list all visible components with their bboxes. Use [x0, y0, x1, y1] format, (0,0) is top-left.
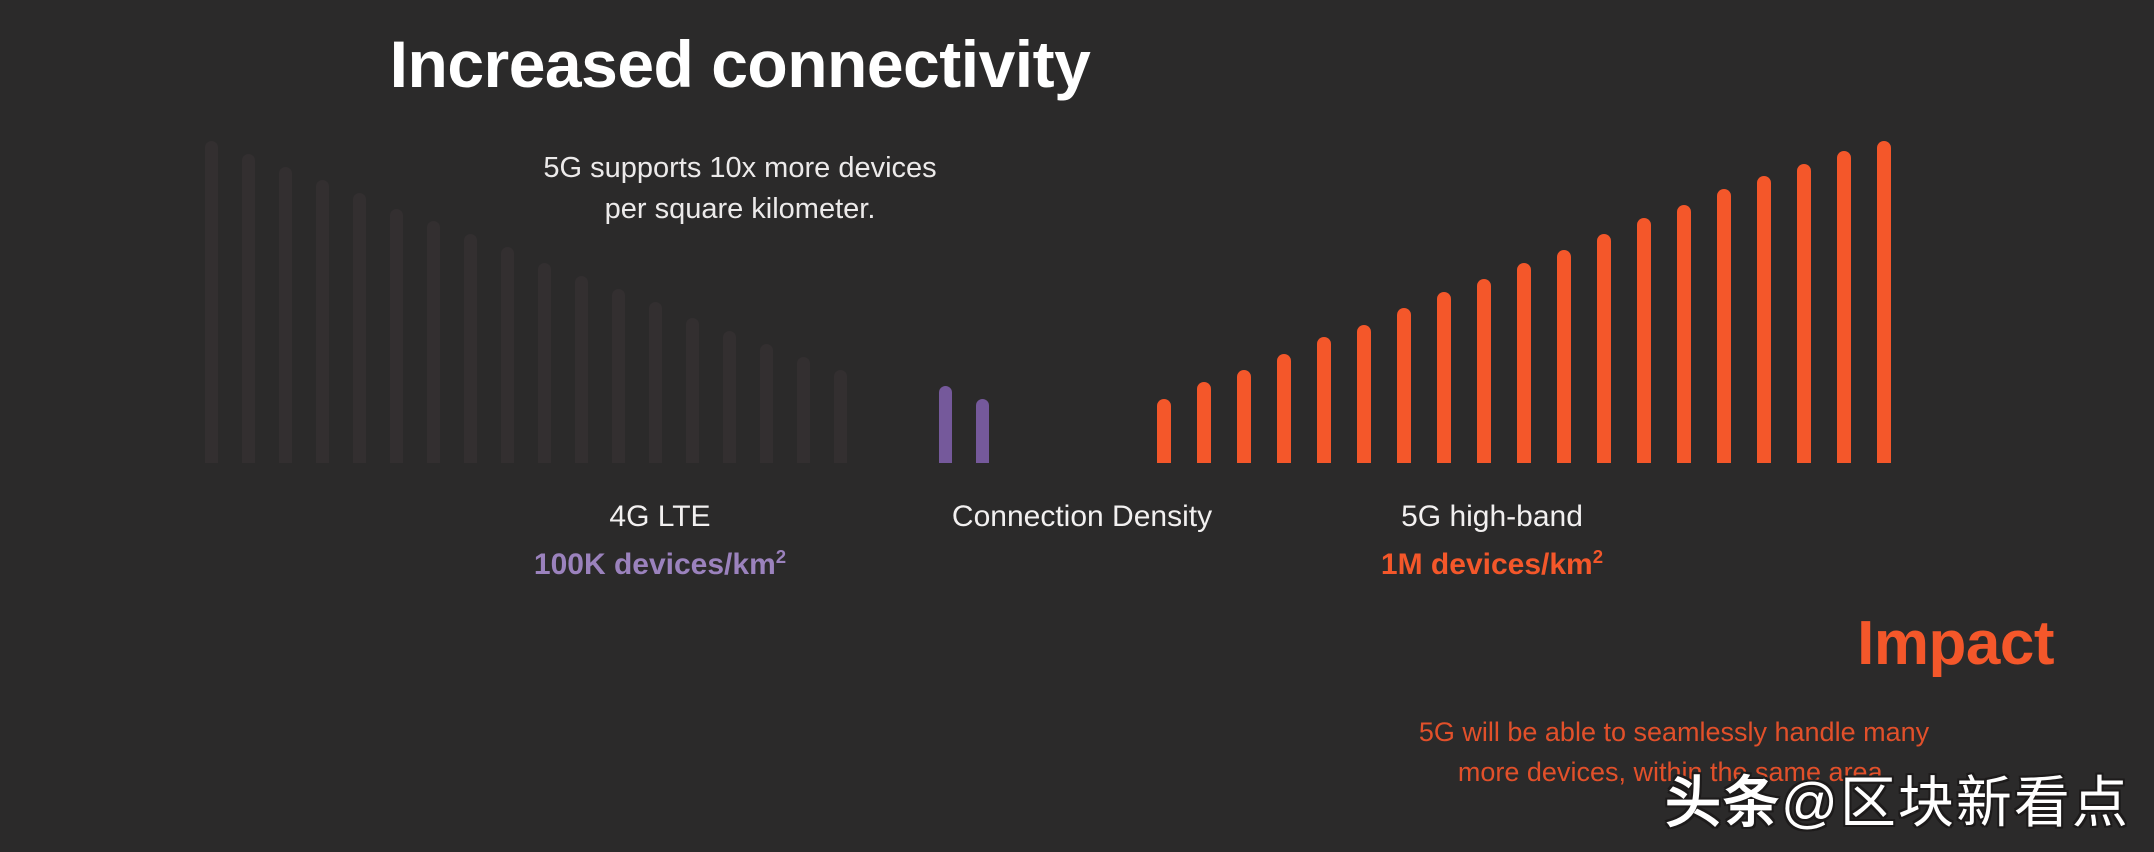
value-5g-high-band-exponent: 2 [1593, 546, 1603, 567]
chart-bar [464, 234, 477, 463]
value-5g-high-band: 1M devices/km2 [1292, 548, 1692, 582]
chart-bar [1557, 250, 1571, 463]
chart-bar [501, 247, 514, 463]
chart-bar [1197, 382, 1211, 463]
impact-heading: Impact [1857, 608, 2054, 679]
chart-bar [1637, 218, 1651, 463]
chart-bar [1357, 325, 1371, 463]
chart-bar [649, 302, 662, 463]
subtitle-line-2: per square kilometer. [0, 189, 1480, 230]
chart-bar [1437, 292, 1451, 463]
chart-bar [1157, 399, 1171, 463]
chart-bar [390, 209, 403, 463]
chart-bar [1837, 151, 1851, 463]
chart-bar [1797, 164, 1811, 463]
chart-bar [1317, 337, 1331, 463]
value-4g-lte: 100K devices/km2 [460, 548, 860, 582]
impact-line-1: 5G will be able to seamlessly handle man… [1294, 713, 2054, 753]
value-5g-high-band-text: 1M devices/km [1381, 548, 1593, 581]
chart-bar [1237, 370, 1251, 463]
chart-bar [797, 357, 810, 463]
chart-bar [427, 221, 440, 463]
chart-bar [1397, 308, 1411, 463]
label-connection-density: Connection Density [882, 500, 1282, 534]
watermark-handle: @区块新看点 [1781, 771, 2130, 834]
chart-bar [1717, 189, 1731, 463]
chart-bar [1877, 141, 1891, 463]
watermark-brand: 头条 [1665, 771, 1781, 834]
chart-bar [538, 263, 551, 463]
chart-bar [1677, 205, 1691, 463]
subtitle-line-1: 5G supports 10x more devices [0, 148, 1480, 189]
chart-bar [723, 331, 736, 463]
chart-bar [1597, 234, 1611, 463]
chart-bar [575, 276, 588, 463]
page-subtitle: 5G supports 10x more devices per square … [0, 148, 1480, 230]
chart-bar [1477, 279, 1491, 463]
label-4g-lte: 4G LTE [460, 500, 860, 534]
value-4g-lte-text: 100K devices/km [534, 548, 776, 581]
chart-bar [834, 370, 847, 463]
value-4g-lte-exponent: 2 [776, 546, 786, 567]
chart-bar [939, 386, 952, 463]
chart-bar [686, 318, 699, 463]
watermark: 头条@区块新看点 [1665, 758, 2130, 839]
infographic-canvas: Increased connectivity 5G supports 10x m… [0, 0, 2154, 852]
chart-bar [760, 344, 773, 463]
chart-bar [1277, 354, 1291, 463]
page-title: Increased connectivity [0, 30, 1480, 99]
chart-bar [353, 193, 366, 463]
chart-bar [1757, 176, 1771, 463]
chart-bar [1517, 263, 1531, 463]
chart-bar [976, 399, 989, 463]
chart-bar [612, 289, 625, 463]
label-5g-high-band: 5G high-band [1292, 500, 1692, 534]
